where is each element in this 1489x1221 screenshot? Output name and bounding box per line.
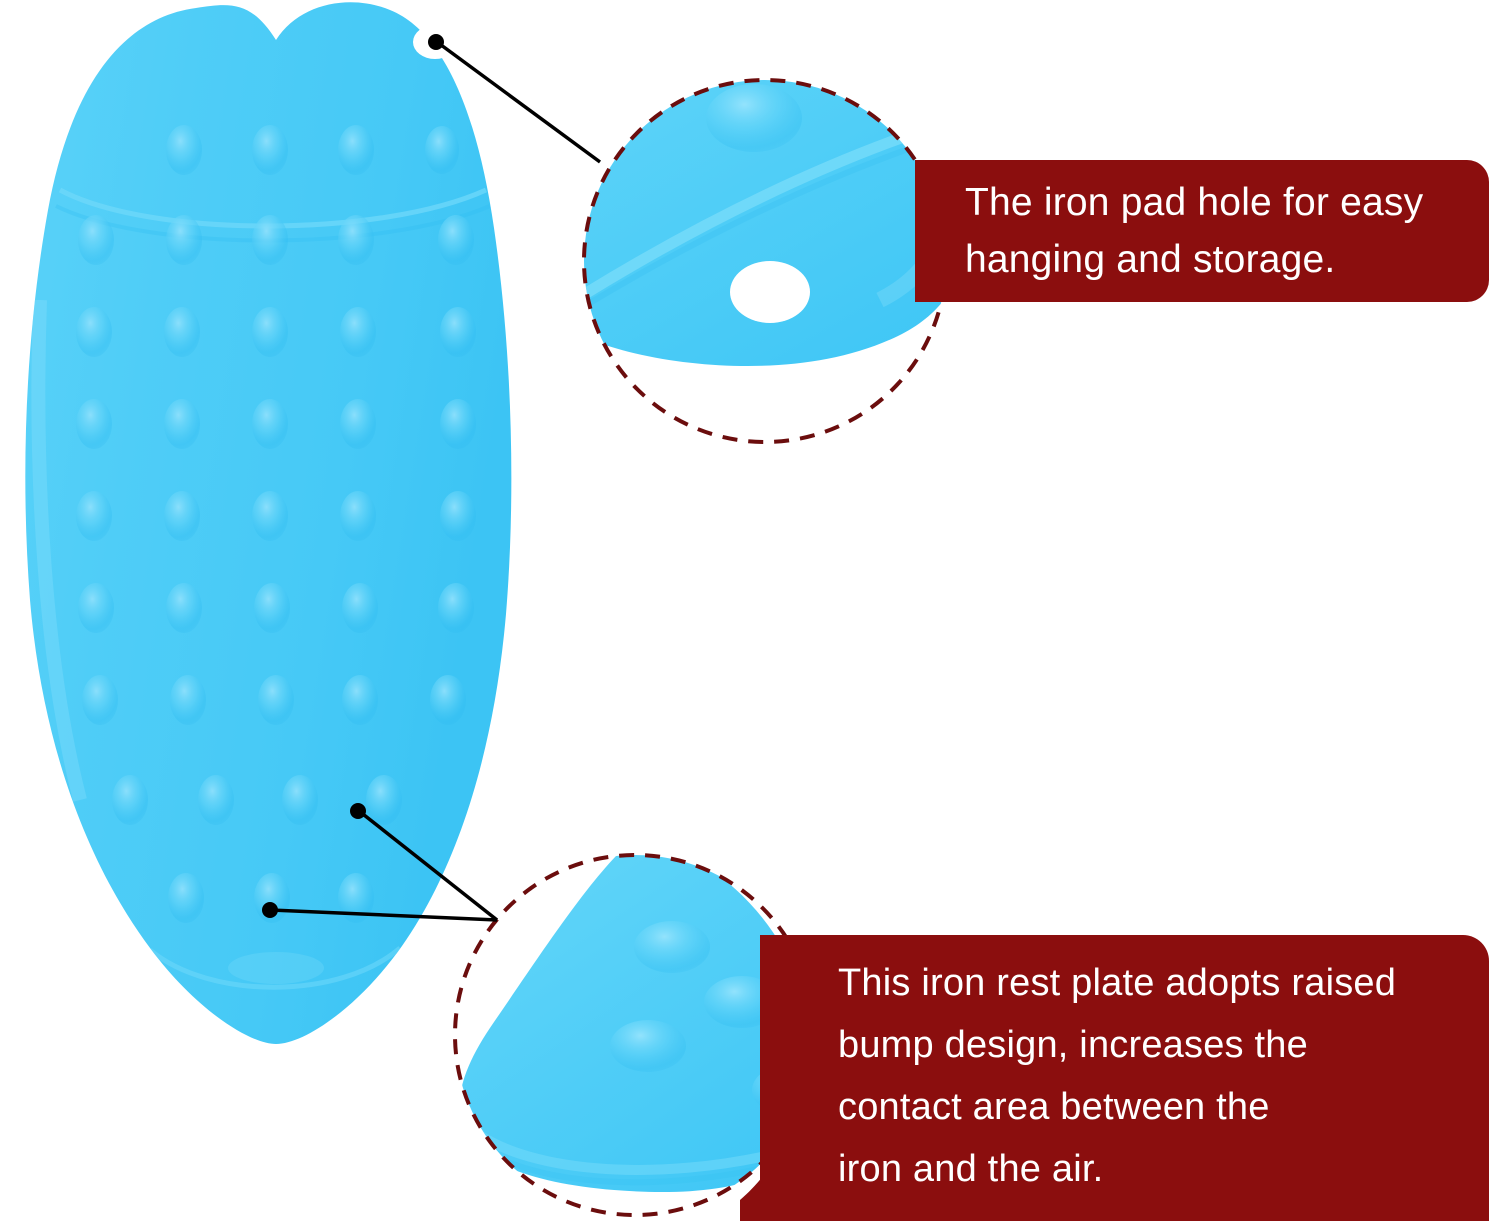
product-infographic: The iron pad hole for easy hanging and s… [0, 0, 1489, 1221]
caption-line: hanging and storage. [965, 231, 1467, 288]
callout-caption-bumps[interactable]: This iron rest plate adopts raised bump … [760, 935, 1489, 1221]
caption-line: The iron pad hole for easy [965, 174, 1467, 231]
caption-line: This iron rest plate adopts raised [838, 953, 1465, 1015]
leader-dot-bump-upper [350, 803, 366, 819]
caption-line: iron and the air. [838, 1139, 1465, 1201]
caption-line: bump design, increases the [838, 1015, 1465, 1077]
leader-dot-bump-lower [262, 902, 278, 918]
caption-line: contact area between the [838, 1077, 1465, 1139]
leader-dot-hole [428, 34, 444, 50]
callout-caption-hole[interactable]: The iron pad hole for easy hanging and s… [915, 160, 1489, 302]
iron-pad-illustration [25, 2, 511, 1044]
magnifier-top [542, 60, 969, 442]
